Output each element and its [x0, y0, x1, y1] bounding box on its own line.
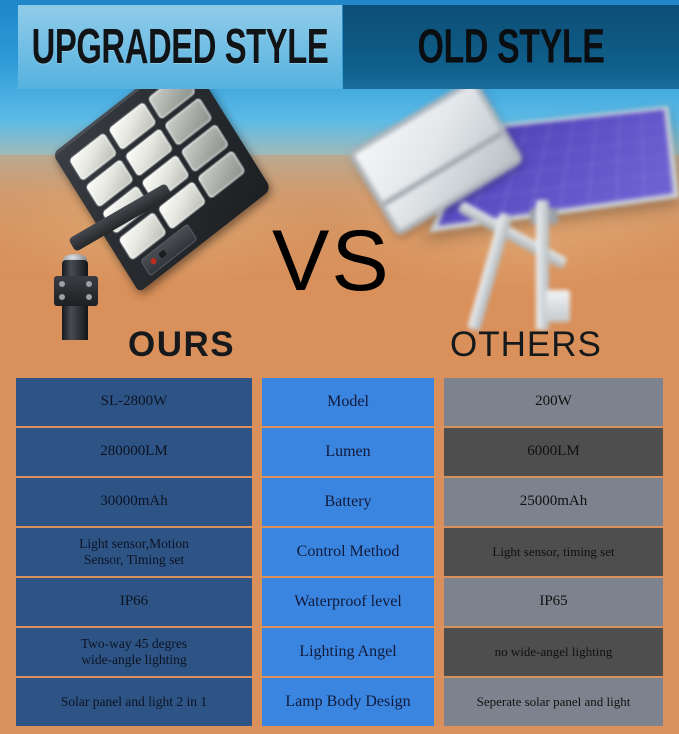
table-row: 30000mAh Battery 25000mAh	[0, 478, 679, 526]
battery-box	[546, 290, 570, 322]
cell-ours-model: SL-2800W	[16, 378, 252, 426]
cell-others-model: 200W	[444, 378, 663, 426]
cell-ours-control-method: Light sensor,Motion Sensor, Timing set	[16, 528, 252, 576]
sensor-window-icon	[158, 249, 167, 258]
bolt-icon	[59, 281, 65, 287]
cell-spec-battery: Battery	[262, 478, 434, 526]
cell-others-lamp-body-design: Seperate solar panel and light	[444, 678, 663, 726]
cell-ours-lamp-body-design: Solar panel and light 2 in 1	[16, 678, 252, 726]
cell-spec-lighting-angel: Lighting Angel	[262, 628, 434, 676]
banner-old-style: OLD STYLE	[343, 5, 679, 89]
table-row: SL-2800W Model 200W	[0, 378, 679, 426]
banner-old-style-label: OLD STYLE	[418, 20, 605, 74]
comparison-table: SL-2800W Model 200W 280000LM Lumen 6000L…	[0, 374, 679, 734]
cell-spec-lumen: Lumen	[262, 428, 434, 476]
table-row: 280000LM Lumen 6000LM	[0, 428, 679, 476]
power-indicator-icon	[150, 257, 158, 266]
pole-bracket	[54, 276, 98, 306]
ours-heading: OURS	[128, 327, 235, 362]
cell-others-control-method: Light sensor, timing set	[444, 528, 663, 576]
table-row: IP66 Waterproof level IP65	[0, 578, 679, 626]
others-heading: OTHERS	[450, 327, 602, 362]
bolt-icon	[59, 294, 65, 300]
table-row: Solar panel and light 2 in 1 Lamp Body D…	[0, 678, 679, 726]
cell-others-lighting-angel: no wide-angel lighting	[444, 628, 663, 676]
cell-others-lumen: 6000LM	[444, 428, 663, 476]
bolt-icon	[86, 281, 92, 287]
banner-upgraded-style-label: UPGRADED STYLE	[32, 20, 329, 75]
cell-spec-lamp-body-design: Lamp Body Design	[262, 678, 434, 726]
table-row: Light sensor,Motion Sensor, Timing set C…	[0, 528, 679, 576]
banner-upgraded-style: UPGRADED STYLE	[18, 5, 342, 89]
cell-spec-control-method: Control Method	[262, 528, 434, 576]
comparison-infographic: UPGRADED STYLE OLD STYLE VS OURS OTHERS …	[0, 0, 679, 734]
cell-spec-waterproof-level: Waterproof level	[262, 578, 434, 626]
cell-ours-battery: 30000mAh	[16, 478, 252, 526]
old-style-street-light-image	[350, 92, 670, 342]
cell-ours-lighting-angel: Two-way 45 degres wide-angle lighting	[16, 628, 252, 676]
cell-ours-lumen: 280000LM	[16, 428, 252, 476]
table-row: Two-way 45 degres wide-angle lighting Li…	[0, 628, 679, 676]
cell-spec-model: Model	[262, 378, 434, 426]
cell-ours-waterproof-level: IP66	[16, 578, 252, 626]
cell-others-battery: 25000mAh	[444, 478, 663, 526]
old-support-brace	[467, 212, 513, 331]
hero-photo-area: UPGRADED STYLE OLD STYLE VS OURS OTHERS	[0, 0, 679, 378]
cell-others-waterproof-level: IP65	[444, 578, 663, 626]
upgraded-solar-street-light-image	[30, 88, 290, 338]
bolt-icon	[86, 294, 92, 300]
vs-label: VS	[272, 218, 391, 304]
